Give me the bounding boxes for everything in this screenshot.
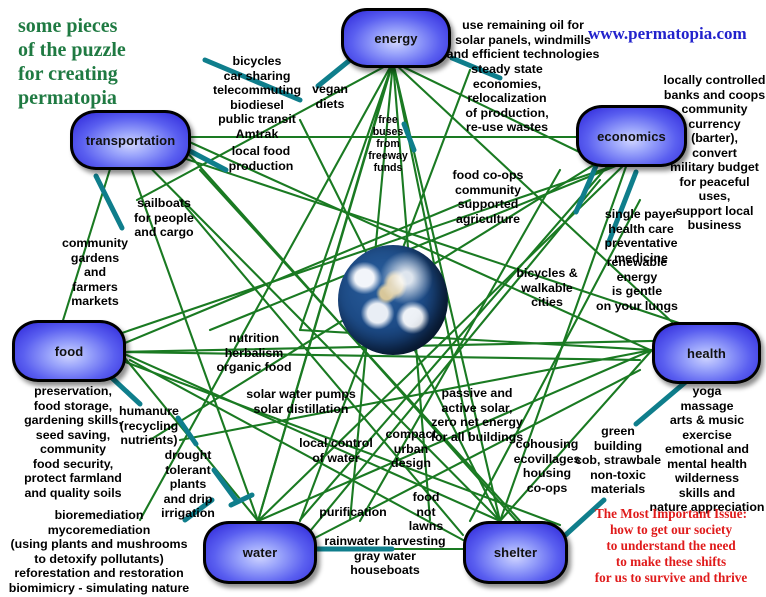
node-label-water: water xyxy=(243,545,277,560)
node-food[interactable]: food xyxy=(12,320,126,382)
node-label-transportation: transportation xyxy=(86,133,176,148)
node-label-food: food xyxy=(55,344,84,359)
label-l-bicycles-walk: bicycles & walkable cities xyxy=(505,266,589,310)
most-important-issue-note: The Most Important Issue: how to get our… xyxy=(578,506,764,586)
node-transportation[interactable]: transportation xyxy=(70,110,191,170)
label-l-humanure: humanure (recycling nutrients) xyxy=(110,404,188,448)
label-l-yoga: yoga massage arts & music exercise emoti… xyxy=(648,384,766,515)
node-water[interactable]: water xyxy=(203,521,317,584)
label-l-renewable: renewable energy is gentle on your lungs xyxy=(589,255,685,313)
label-l-cohousing: cohousing ecovillages housing co-ops xyxy=(505,437,589,495)
label-l-food-not-lawns: food not lawns xyxy=(400,490,452,534)
label-l-community-gard: community gardens and farmers markets xyxy=(54,236,136,309)
label-l-food-coops: food co-ops community supported agricult… xyxy=(442,168,534,226)
node-health[interactable]: health xyxy=(652,322,761,384)
label-l-rainwater: rainwater harvesting gray water houseboa… xyxy=(318,534,452,578)
label-l-bicycles-car: bicycles car sharing telecommuting biodi… xyxy=(198,54,316,141)
label-l-vegan: vegan diets xyxy=(300,82,360,111)
label-l-compact-urban: compact urban design xyxy=(378,427,444,471)
label-l-local-control: local control of water xyxy=(292,436,380,465)
label-l-purification: purification xyxy=(313,505,393,520)
label-l-remaining-oil: use remaining oil for solar panels, wind… xyxy=(443,18,603,62)
node-energy[interactable]: energy xyxy=(341,8,451,68)
node-shelter[interactable]: shelter xyxy=(463,521,568,584)
node-label-shelter: shelter xyxy=(494,545,537,560)
node-label-energy: energy xyxy=(374,31,417,46)
label-l-local-food-prod: local food production xyxy=(218,144,304,173)
permatopia-diagram: some pieces of the puzzle for creating p… xyxy=(0,0,766,597)
label-l-solar-water: solar water pumps solar distillation xyxy=(240,387,362,416)
label-l-bioremediation: bioremediation mycoremediation (using pl… xyxy=(8,508,190,595)
label-l-sailboats: sailboats for people and cargo xyxy=(124,196,204,240)
page-title: some pieces of the puzzle for creating p… xyxy=(18,14,126,110)
earth-photo xyxy=(338,245,448,355)
node-label-health: health xyxy=(687,346,726,361)
label-l-free-buses: free buses from freeway funds xyxy=(364,114,412,174)
label-l-steady-state: steady state economies, relocalization o… xyxy=(455,62,559,135)
website-url: www.permatopia.com xyxy=(588,24,747,44)
label-l-nutrition: nutrition herbalism organic food xyxy=(206,331,302,375)
node-label-economics: economics xyxy=(597,129,666,144)
